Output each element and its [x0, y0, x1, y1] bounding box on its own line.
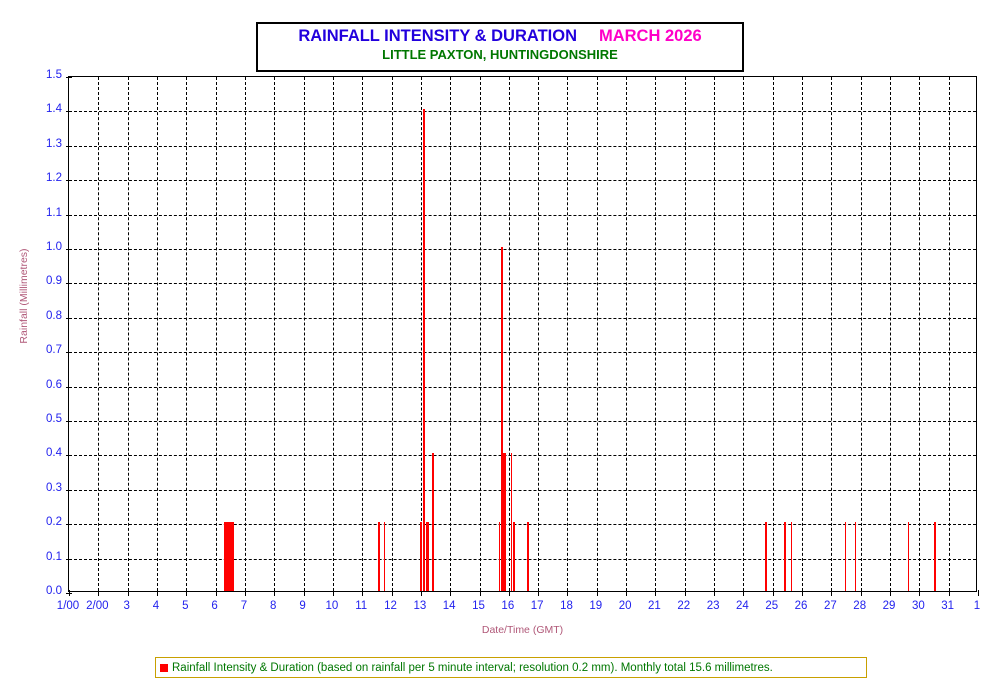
x-axis-tick-label: 8 — [270, 600, 276, 612]
x-axis-tick-label: 14 — [443, 600, 456, 612]
vertical-grid-line — [304, 77, 305, 591]
vertical-grid-line — [831, 77, 832, 591]
vertical-grid-line — [802, 77, 803, 591]
vertical-grid-line — [274, 77, 275, 591]
vertical-grid-line — [538, 77, 539, 591]
x-axis-tick — [685, 590, 686, 596]
vertical-grid-line — [861, 77, 862, 591]
y-axis-tick — [66, 77, 72, 78]
y-axis-tick-label: 0.1 — [32, 551, 62, 563]
vertical-grid-line — [919, 77, 920, 591]
x-axis-tick — [362, 590, 363, 596]
rainfall-bar — [934, 522, 936, 591]
y-axis-tick-label: 0.5 — [32, 413, 62, 425]
x-axis-tick — [567, 590, 568, 596]
horizontal-grid-line — [69, 352, 976, 353]
x-axis-tick — [890, 590, 891, 596]
vertical-grid-line — [567, 77, 568, 591]
x-axis-tick — [714, 590, 715, 596]
y-axis-tick-labels: 1.51.41.31.21.11.00.90.80.70.60.50.40.30… — [30, 76, 62, 592]
rainfall-bar — [845, 522, 847, 591]
x-axis-tick-label: 18 — [560, 600, 573, 612]
vertical-grid-line — [509, 77, 510, 591]
y-axis-title: Rainfall (Millimetres) — [18, 196, 30, 396]
vertical-grid-line — [186, 77, 187, 591]
x-axis-tick-label: 1/00 — [57, 600, 79, 612]
x-axis-tick-label: 22 — [677, 600, 690, 612]
y-axis-tick — [66, 283, 72, 284]
y-axis-tick — [66, 249, 72, 250]
rainfall-bar — [784, 522, 786, 591]
horizontal-grid-line — [69, 524, 976, 525]
x-axis-tick — [655, 590, 656, 596]
rainfall-bar — [501, 247, 503, 591]
x-axis-tick-label: 20 — [619, 600, 632, 612]
horizontal-grid-line — [69, 249, 976, 250]
x-axis-tick — [157, 590, 158, 596]
rainfall-bar — [765, 522, 767, 591]
rainfall-bar — [224, 522, 233, 591]
x-axis-tick — [450, 590, 451, 596]
x-axis-tick — [597, 590, 598, 596]
y-axis-tick-label: 0.9 — [32, 275, 62, 287]
x-axis-tick — [743, 590, 744, 596]
y-axis-tick-label: 0.7 — [32, 344, 62, 356]
vertical-grid-line — [890, 77, 891, 591]
chart-title-box: RAINFALL INTENSITY & DURATIONMARCH 2026 … — [256, 22, 744, 72]
horizontal-grid-line — [69, 111, 976, 112]
y-axis-tick — [66, 180, 72, 181]
x-axis-tick-label: 1 — [974, 600, 980, 612]
x-axis-tick — [69, 590, 70, 596]
y-axis-tick-label: 0.8 — [32, 310, 62, 322]
x-axis-tick-label: 21 — [648, 600, 661, 612]
x-axis-tick-label: 19 — [589, 600, 602, 612]
vertical-grid-line — [421, 77, 422, 591]
chart-title-main: RAINFALL INTENSITY & DURATION — [298, 27, 577, 45]
horizontal-grid-line — [69, 283, 976, 284]
y-axis-tick-label: 1.4 — [32, 103, 62, 115]
y-axis-tick-label: 1.2 — [32, 172, 62, 184]
y-axis-tick — [66, 318, 72, 319]
y-axis-tick — [66, 524, 72, 525]
x-axis-tick — [949, 590, 950, 596]
x-axis-tick — [538, 590, 539, 596]
rainfall-bar — [791, 522, 793, 591]
x-axis-tick — [802, 590, 803, 596]
vertical-grid-line — [480, 77, 481, 591]
x-axis-tick-label: 24 — [736, 600, 749, 612]
x-axis-tick — [333, 590, 334, 596]
vertical-grid-line — [949, 77, 950, 591]
vertical-grid-line — [362, 77, 363, 591]
vertical-grid-line — [245, 77, 246, 591]
y-axis-tick — [66, 215, 72, 216]
vertical-grid-line — [655, 77, 656, 591]
x-axis-tick-label: 9 — [299, 600, 305, 612]
x-axis-tick-label: 30 — [912, 600, 925, 612]
rainfall-bar — [527, 522, 529, 591]
x-axis-tick — [274, 590, 275, 596]
rainfall-bar — [503, 453, 506, 591]
rainfall-bar — [420, 522, 422, 591]
horizontal-grid-line — [69, 387, 976, 388]
chart-title-location: LITTLE PAXTON, HUNTINGDONSHIRE — [258, 47, 742, 62]
vertical-grid-line — [157, 77, 158, 591]
x-axis-tick-label: 17 — [531, 600, 544, 612]
y-axis-tick — [66, 111, 72, 112]
y-axis-tick-label: 0.6 — [32, 379, 62, 391]
y-axis-tick — [66, 352, 72, 353]
plot-area — [68, 76, 977, 592]
rainfall-chart-page: RAINFALL INTENSITY & DURATIONMARCH 2026 … — [0, 0, 1001, 686]
chart-title-period: MARCH 2026 — [599, 27, 702, 45]
x-axis-tick — [919, 590, 920, 596]
x-axis-tick-label: 13 — [413, 600, 426, 612]
x-axis-tick-label: 5 — [182, 600, 188, 612]
x-axis-tick-label: 10 — [325, 600, 338, 612]
x-axis-tick-label: 23 — [707, 600, 720, 612]
x-axis-tick-label: 3 — [123, 600, 129, 612]
rainfall-bar — [511, 453, 513, 591]
rainfall-bars — [69, 77, 976, 591]
y-axis-tick-label: 0.4 — [32, 447, 62, 459]
rainfall-bar — [378, 522, 380, 591]
horizontal-grid-line — [69, 421, 976, 422]
x-axis-tick-label: 2/00 — [86, 600, 108, 612]
rainfall-bar — [426, 522, 430, 591]
rainfall-bar — [423, 109, 425, 591]
y-axis-tick — [66, 455, 72, 456]
rainfall-bar — [855, 522, 857, 591]
horizontal-grid-line — [69, 146, 976, 147]
vertical-grid-line — [714, 77, 715, 591]
y-axis-tick — [66, 490, 72, 491]
x-axis-tick — [216, 590, 217, 596]
x-axis-tick — [861, 590, 862, 596]
vertical-grid-line — [626, 77, 627, 591]
x-axis-tick-label: 12 — [384, 600, 397, 612]
x-axis-tick — [392, 590, 393, 596]
vertical-grid-line — [216, 77, 217, 591]
x-axis-tick — [245, 590, 246, 596]
y-axis-tick-label: 1.5 — [32, 69, 62, 81]
x-axis-tick — [480, 590, 481, 596]
x-axis-tick-label: 26 — [795, 600, 808, 612]
x-axis-tick — [773, 590, 774, 596]
x-axis-tick — [304, 590, 305, 596]
x-axis-tick-label: 15 — [472, 600, 485, 612]
grid-lines — [69, 77, 976, 591]
vertical-grid-line — [773, 77, 774, 591]
horizontal-grid-line — [69, 559, 976, 560]
x-axis-tick-labels: 1/002/0034567891011121314151617181920212… — [68, 600, 977, 618]
vertical-grid-line — [98, 77, 99, 591]
chart-title-line-1: RAINFALL INTENSITY & DURATIONMARCH 2026 — [258, 27, 742, 46]
x-axis-tick-label: 27 — [824, 600, 837, 612]
chart-legend: Rainfall Intensity & Duration (based on … — [155, 657, 867, 678]
x-axis-title: Date/Time (GMT) — [68, 624, 977, 636]
y-axis-tick-label: 0.0 — [32, 585, 62, 597]
vertical-grid-line — [333, 77, 334, 591]
legend-color-swatch — [160, 664, 168, 672]
x-axis-tick-label: 25 — [765, 600, 778, 612]
vertical-grid-line — [450, 77, 451, 591]
x-axis-tick — [831, 590, 832, 596]
x-axis-tick-label: 6 — [211, 600, 217, 612]
vertical-grid-line — [743, 77, 744, 591]
x-axis-tick-label: 31 — [941, 600, 954, 612]
y-axis-tick-label: 0.3 — [32, 482, 62, 494]
vertical-grid-line — [392, 77, 393, 591]
vertical-grid-line — [685, 77, 686, 591]
y-axis-tick-label: 1.3 — [32, 138, 62, 150]
horizontal-grid-line — [69, 318, 976, 319]
x-axis-tick — [128, 590, 129, 596]
x-axis-tick — [509, 590, 510, 596]
rainfall-bar — [908, 522, 910, 591]
y-axis-tick — [66, 593, 72, 594]
y-axis-tick — [66, 146, 72, 147]
x-axis-tick — [186, 590, 187, 596]
x-axis-tick-label: 28 — [853, 600, 866, 612]
y-axis-tick — [66, 421, 72, 422]
x-axis-tick — [626, 590, 627, 596]
horizontal-grid-line — [69, 455, 976, 456]
vertical-grid-line — [128, 77, 129, 591]
rainfall-bar — [499, 522, 501, 591]
vertical-grid-line — [597, 77, 598, 591]
x-axis-tick-label: 11 — [355, 600, 367, 612]
x-axis-tick — [978, 590, 979, 596]
horizontal-grid-line — [69, 490, 976, 491]
y-axis-tick — [66, 559, 72, 560]
legend-label: Rainfall Intensity & Duration (based on … — [172, 662, 773, 674]
horizontal-grid-line — [69, 180, 976, 181]
horizontal-grid-line — [69, 215, 976, 216]
y-axis-tick-label: 1.0 — [32, 241, 62, 253]
x-axis-tick-label: 7 — [241, 600, 247, 612]
rainfall-bar — [384, 522, 386, 591]
x-axis-tick-label: 29 — [883, 600, 896, 612]
y-axis-tick-label: 0.2 — [32, 516, 62, 528]
rainfall-bar — [432, 453, 434, 591]
y-axis-tick-label: 1.1 — [32, 207, 62, 219]
x-axis-tick — [421, 590, 422, 596]
x-axis-tick-label: 4 — [153, 600, 159, 612]
x-axis-tick — [98, 590, 99, 596]
rainfall-bar — [513, 522, 515, 591]
x-axis-tick-label: 16 — [501, 600, 514, 612]
y-axis-tick — [66, 387, 72, 388]
